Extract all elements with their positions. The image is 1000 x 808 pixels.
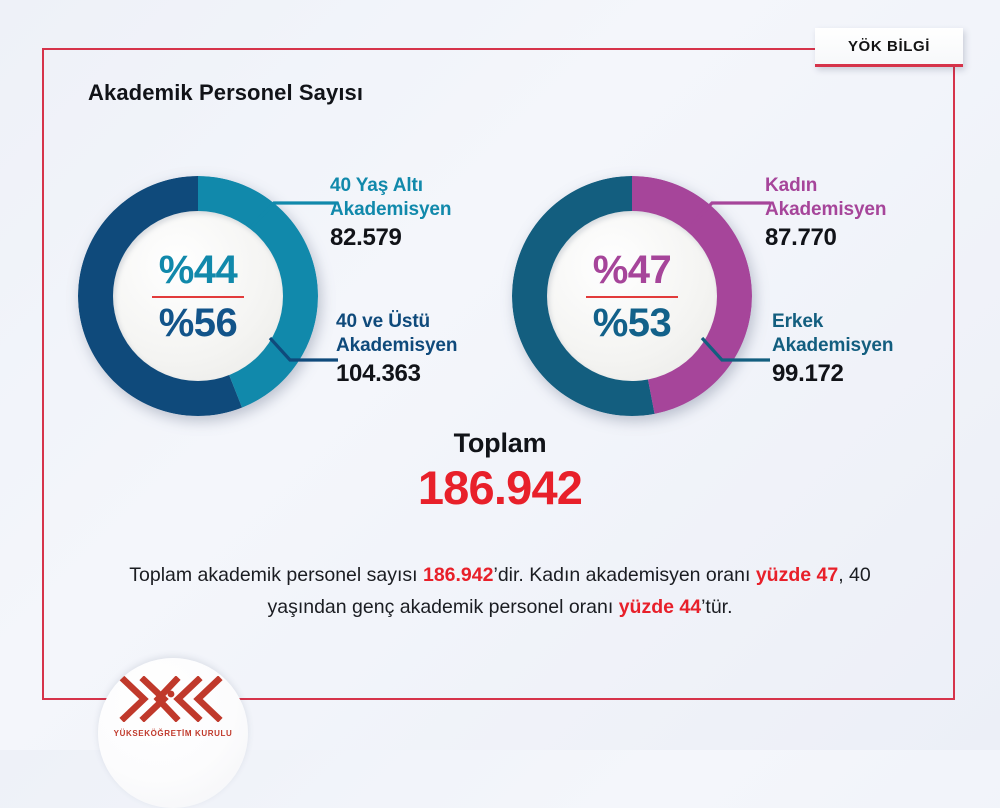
gender-female-label-block: Kadın Akademisyen 87.770 (765, 174, 886, 252)
age-over40-label-line1: 40 ve Üstü (336, 311, 430, 332)
gender-female-label-line1: Kadın (765, 175, 817, 196)
gender-top-leader-line (690, 186, 772, 231)
gender-male-label-line1: Erkek (772, 311, 823, 332)
yok-bilgi-ribbon: YÖK BİLGİ (815, 28, 963, 67)
age-under40-value: 82.579 (330, 224, 451, 252)
yok-logo-icon (118, 676, 228, 722)
yok-logo-subtitle: YÜKSEKÖĞRETİM KURULU (98, 729, 248, 738)
total-value: 186.942 (0, 460, 1000, 515)
age-bottom-leader-line (268, 330, 340, 375)
description-part1: Toplam akademik personel sayısı (129, 564, 423, 586)
total-block: Toplam 186.942 (0, 428, 1000, 515)
age-percent-divider (152, 296, 244, 298)
gender-percent-male: %53 (593, 302, 672, 344)
age-top-leader-line (250, 186, 340, 231)
age-under40-label-line1: 40 Yaş Altı (330, 175, 423, 196)
gender-male-label-block: Erkek Akademisyen 99.172 (772, 310, 893, 388)
description-highlight-total: 186.942 (423, 564, 494, 586)
description-text: Toplam akademik personel sayısı 186.942’… (90, 560, 910, 623)
gender-male-label-line2: Akademisyen (772, 335, 893, 356)
total-label: Toplam (0, 428, 1000, 459)
gender-female-value: 87.770 (765, 224, 886, 252)
age-over40-label-line2: Akademisyen (336, 335, 457, 356)
ribbon-label: YÖK BİLGİ (848, 38, 930, 55)
age-over40-value: 104.363 (336, 360, 457, 388)
age-over40-label-block: 40 ve Üstü Akademisyen 104.363 (336, 310, 457, 388)
yok-logo-badge: YÜKSEKÖĞRETİM KURULU (98, 658, 248, 808)
description-highlight-young-pct: yüzde 44 (619, 596, 701, 618)
gender-percent-female: %47 (593, 249, 672, 291)
gender-female-label-line2: Akademisyen (765, 199, 886, 220)
gender-percent-divider (586, 296, 678, 298)
description-highlight-female-pct: yüzde 47 (756, 564, 838, 586)
age-percent-over40: %56 (159, 302, 238, 344)
age-percent-under40: %44 (159, 249, 238, 291)
gender-male-value: 99.172 (772, 360, 893, 388)
age-under40-label-line2: Akademisyen (330, 199, 451, 220)
gender-donut-center: %47 %53 (547, 211, 717, 381)
description-part2: ’dir. Kadın akademisyen oranı (493, 564, 755, 586)
gender-bottom-leader-line (700, 330, 772, 375)
description-part4: ’tür. (701, 596, 732, 618)
age-donut-center: %44 %56 (113, 211, 283, 381)
age-under40-label-block: 40 Yaş Altı Akademisyen 82.579 (330, 174, 451, 252)
page-title: Akademik Personel Sayısı (88, 80, 363, 106)
